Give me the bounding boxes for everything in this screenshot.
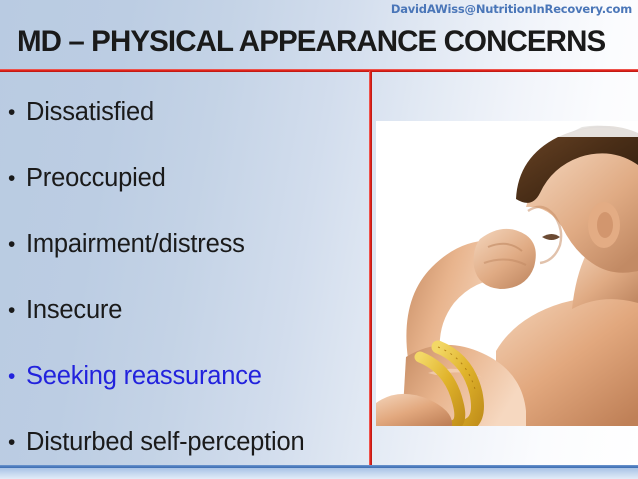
list-item-highlighted: • Seeking reassurance	[8, 356, 262, 396]
list-item-label: Preoccupied	[26, 163, 166, 193]
bullet-marker-icon: •	[8, 300, 26, 321]
bullet-marker-icon: •	[8, 102, 26, 123]
list-item: • Disturbed self-perception	[8, 422, 304, 462]
horizontal-divider	[0, 69, 638, 72]
photo-edge-fade	[376, 121, 638, 137]
list-item: • Impairment/distress	[8, 224, 245, 264]
list-item: • Insecure	[8, 290, 122, 330]
bullet-marker-icon: •	[8, 432, 26, 453]
list-item: • Dissatisfied	[8, 92, 154, 132]
list-item: • Preoccupied	[8, 158, 166, 198]
bullet-marker-icon: •	[8, 234, 26, 255]
footer-band	[0, 468, 638, 479]
flexing-arm-photo	[376, 121, 638, 426]
slide-title: MD – PHYSICAL APPEARANCE CONCERNS	[17, 21, 627, 65]
list-item-label: Impairment/distress	[26, 229, 245, 259]
list-item-label: Insecure	[26, 295, 122, 325]
list-item-label: Disturbed self-perception	[26, 427, 304, 457]
vertical-divider	[369, 71, 372, 467]
ear-inner	[597, 212, 613, 238]
bullet-marker-icon: •	[8, 366, 26, 387]
bullet-list: • Dissatisfied • Preoccupied • Impairmen…	[0, 84, 368, 462]
email-banner: DavidAWiss@NutritionInRecovery.com	[0, 0, 638, 18]
list-item-label: Dissatisfied	[26, 97, 154, 127]
list-item-label: Seeking reassurance	[26, 361, 262, 391]
slide: DavidAWiss@NutritionInRecovery.com MD – …	[0, 0, 638, 479]
flexing-arm-illustration	[376, 121, 638, 426]
presenter-email: DavidAWiss@NutritionInRecovery.com	[391, 1, 638, 18]
bullet-marker-icon: •	[8, 168, 26, 189]
